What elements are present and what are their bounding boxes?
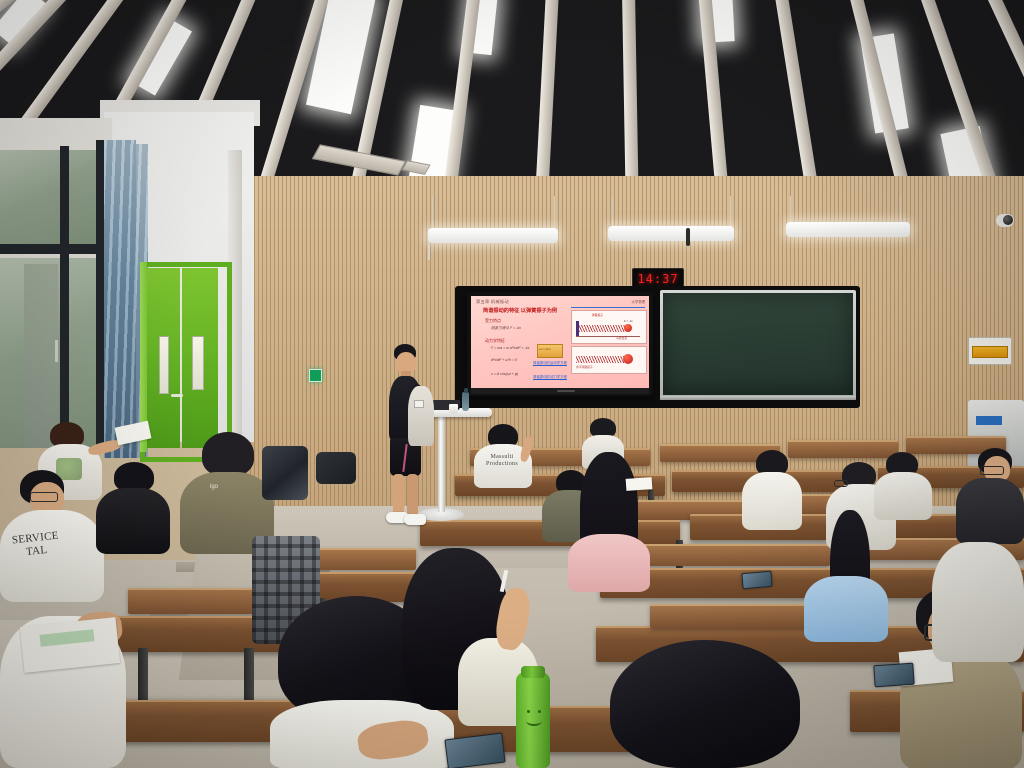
figure-1-spring xyxy=(579,325,625,332)
assistant-behind-podium xyxy=(408,386,436,482)
chalkboard xyxy=(660,290,856,398)
student-torso xyxy=(742,472,802,530)
student-back-row-right xyxy=(874,452,934,518)
figure-1-force-label: F = -kx xyxy=(624,319,633,323)
glasses-icon xyxy=(30,492,58,502)
desk-row-backrest xyxy=(630,544,830,566)
smartphone[interactable] xyxy=(873,663,914,688)
student-torso xyxy=(568,534,650,592)
window-mullion xyxy=(60,146,69,446)
interactive-display[interactable]: 第五章 机械振动 大学物理 简谐振动的特征 以弹簧振子为例 受力特点 回复力遵从… xyxy=(467,292,653,396)
display-power-led xyxy=(557,390,575,392)
smiley-face-icon xyxy=(524,710,544,726)
backpack xyxy=(262,446,308,500)
student-massulti: Massulti Productions xyxy=(470,424,534,486)
door-handle[interactable] xyxy=(171,394,183,397)
figure-2-spring xyxy=(576,356,624,363)
clock-time: 14:37 xyxy=(637,272,678,286)
paper-cup xyxy=(449,404,458,414)
shirt-logo: lgo xyxy=(210,484,218,490)
slide-figure-spring-1: 弹簧振子 F = -kx 平衡位置 xyxy=(571,310,647,344)
figure-2-mass xyxy=(623,354,633,364)
student-white-right-1 xyxy=(742,450,804,528)
window-mullion xyxy=(0,244,100,254)
slide-equation-3: x = A cos(ωt + φ) xyxy=(491,372,518,376)
slide-figure-spring-2: 水平弹簧振子 xyxy=(571,346,647,374)
board-assembly: 第五章 机械振动 大学物理 简谐振动的特征 以弹簧振子为例 受力特点 回复力遵从… xyxy=(455,286,860,408)
slide-equation-2: d²x/dt² + ω²x = 0 xyxy=(491,358,517,362)
smiley-eye xyxy=(527,710,530,713)
chalk-tray xyxy=(660,396,856,400)
door-vision-panel xyxy=(159,336,169,394)
pendant-pull-cord xyxy=(428,242,430,260)
smiley-mouth xyxy=(526,716,542,726)
pen xyxy=(500,570,508,592)
assistant-badge xyxy=(414,400,424,408)
student-longhair-centre xyxy=(566,452,652,592)
student-torso xyxy=(932,542,1024,662)
corridor-window-glass xyxy=(0,150,96,250)
notebook xyxy=(626,477,653,491)
slide-link-1[interactable]: 简谐振动的运动学方程 xyxy=(533,360,567,365)
pendant-rod xyxy=(612,196,613,228)
podium-post xyxy=(438,416,445,512)
figure-1-caption: 弹簧振子 xyxy=(592,313,603,317)
smartphone[interactable] xyxy=(444,733,505,768)
pendant-rod xyxy=(790,196,791,224)
student-dark-glasses-right xyxy=(956,448,1024,542)
corridor-door-panel xyxy=(24,264,58,448)
security-camera-icon xyxy=(996,214,1014,227)
slide-subline: 回复力遵从 F = -kx xyxy=(491,326,521,331)
slide-note-text: ω² = k/m xyxy=(539,347,551,351)
pendant-rod xyxy=(554,196,555,230)
chalkboard-surface xyxy=(663,293,853,395)
student-black-tee-left xyxy=(96,462,172,554)
smiley-eye xyxy=(538,710,541,713)
slide-equation-1: F = ma = m d²x/dt² = -kx xyxy=(491,346,529,350)
slide-badge: 大学物理 xyxy=(631,299,645,304)
student-glasses-icon xyxy=(834,480,848,487)
figure-1-baseline xyxy=(576,336,640,337)
glasses-icon xyxy=(980,466,1004,475)
pendant-rod xyxy=(432,196,433,230)
figure-2-caption: 水平弹簧振子 xyxy=(576,365,593,369)
door-vision-panel xyxy=(192,336,204,390)
slide-bullet-1: 受力特点 xyxy=(485,318,501,324)
smartphone[interactable] xyxy=(741,571,772,590)
student-white-tee-left: SERVICE TAL xyxy=(0,470,108,600)
student-hair xyxy=(610,640,800,768)
pendant-light xyxy=(428,228,558,243)
pendant-light xyxy=(786,222,910,237)
presenter-shoe-right xyxy=(404,514,426,525)
presenter-leg-left xyxy=(393,474,404,516)
backpack xyxy=(316,452,356,484)
lecture-hall-photo: 14:37 第五章 机械振动 大学物理 简谐振动的特征 以弹簧振子为例 受力特点… xyxy=(0,0,1024,768)
slide-heading: 简谐振动的特征 以弹簧振子为例 xyxy=(483,307,557,314)
student-blue-ponytail xyxy=(804,510,890,640)
desk-row-backrest xyxy=(650,604,830,628)
figure-1-equilibrium-label: 平衡位置 xyxy=(616,336,627,340)
slide-link-2[interactable]: 简谐振动的动力学方程 xyxy=(533,374,567,379)
student-hair-bun xyxy=(202,432,254,476)
student-right-edge xyxy=(932,542,1024,662)
pendant-light xyxy=(608,226,734,241)
pendant-cable-clip xyxy=(686,228,690,246)
desk-leg xyxy=(138,648,148,706)
student-torso xyxy=(874,472,932,520)
slide-chapter: 第五章 机械振动 xyxy=(476,299,509,305)
slide-bullet-2: 动力学特征 xyxy=(485,338,505,344)
student-foreground-right xyxy=(600,640,830,768)
window-mullion xyxy=(96,140,104,450)
corridor-door-handle xyxy=(55,340,58,362)
electrical-panel-box xyxy=(968,337,1012,365)
pendant-rod xyxy=(730,196,731,228)
projected-slide: 第五章 机械振动 大学物理 简谐振动的特征 以弹簧振子为例 受力特点 回复力遵从… xyxy=(471,296,649,388)
assistant-torso xyxy=(408,386,434,446)
student-torso xyxy=(804,576,888,642)
bottle-cap xyxy=(521,666,545,678)
presenter-water-bottle xyxy=(462,392,469,411)
figure-1-mass xyxy=(624,324,632,332)
student-torso xyxy=(96,488,170,554)
pendant-rod xyxy=(900,196,901,224)
slide-rule xyxy=(571,307,645,308)
exit-sign xyxy=(309,369,322,382)
student-torso xyxy=(956,478,1024,544)
